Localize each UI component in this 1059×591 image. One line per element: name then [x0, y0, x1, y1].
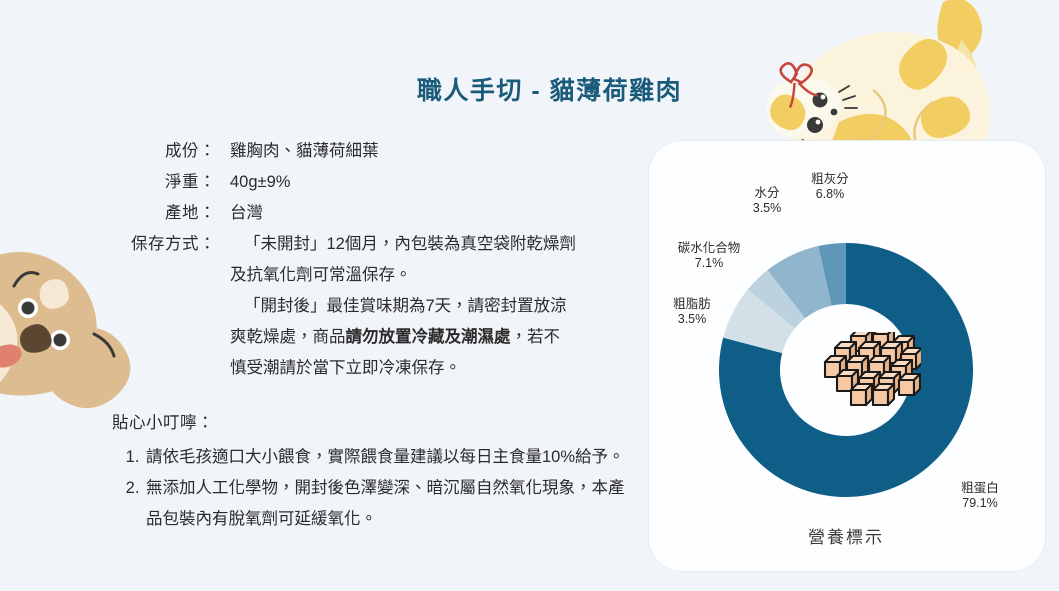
slice-label-name: 粗灰分 — [811, 172, 849, 186]
cube-front — [837, 376, 852, 391]
slice-label-protein: 粗蛋白 79.1% — [938, 481, 1022, 511]
cube-front — [899, 380, 914, 395]
spec-key: 保存方式： — [120, 229, 216, 260]
storage-line-4-prefix: 爽乾燥處，商品 — [230, 328, 346, 346]
storage-line-4-suffix: ，若不 — [511, 328, 561, 346]
spec-value: 雞胸肉、貓薄荷細葉 — [216, 136, 640, 167]
tips-heading: 貼心小叮嚀： — [112, 408, 632, 439]
nutrition-donut-chart: 粗灰分 6.8% 水分 3.5% 碳水化合物 7.1% 粗脂肪 3.5% 粗蛋白… — [648, 140, 1044, 570]
spec-key: 淨重： — [120, 167, 216, 198]
spec-value: 台灣 — [216, 198, 640, 229]
slice-label-value: 79.1% — [938, 496, 1022, 511]
slice-label-carbohydrate: 碳水化合物 7.1% — [654, 241, 764, 271]
cube-front — [873, 390, 888, 405]
tips-block: 貼心小叮嚀： 請依毛孩適口大小餵食，實際餵食量建議以每日主食量10%給予。 無添… — [112, 408, 632, 535]
list-item: 請依毛孩適口大小餵食，實際餵食量建議以每日主食量10%給予。 — [144, 442, 632, 473]
slice-label-ash: 粗灰分 6.8% — [790, 172, 870, 202]
slice-label-value: 7.1% — [654, 256, 764, 271]
slice-label-name: 粗蛋白 — [961, 481, 999, 495]
slice-label-name: 水分 — [754, 186, 779, 200]
chart-caption: 營養標示 — [648, 523, 1044, 548]
slice-label-value: 6.8% — [790, 187, 870, 202]
spec-value-line: 雞胸肉、貓薄荷細葉 — [230, 136, 640, 167]
spec-row-origin: 產地： 台灣 — [120, 198, 640, 229]
page-title: 職人手切 - 貓薄荷雞肉 — [0, 71, 1059, 107]
diced-chicken-cubes-icon — [811, 332, 921, 412]
slice-label-name: 碳水化合物 — [678, 241, 741, 255]
product-spec-list: 成份： 雞胸肉、貓薄荷細葉 淨重： 40g±9% 產地： 台灣 保存方式： 「未… — [120, 136, 640, 384]
slice-label-moisture: 水分 3.5% — [734, 186, 800, 216]
spec-value-line: 台灣 — [230, 198, 640, 229]
storage-line-2: 及抗氧化劑可常溫保存。 — [230, 260, 640, 291]
list-item: 無添加人工化學物，開封後色澤變深、暗沉屬自然氧化現象，本產品包裝內有脫氧劑可延緩… — [144, 473, 632, 535]
slice-label-name: 粗脂肪 — [673, 297, 711, 311]
spec-row-ingredients: 成份： 雞胸肉、貓薄荷細葉 — [120, 136, 640, 167]
spec-row-storage: 保存方式： 「未開封」12個月，內包裝為真空袋附乾燥劑 及抗氧化劑可常溫保存。 … — [120, 229, 640, 384]
storage-line-3: 「開封後」最佳賞味期為7天，請密封置放涼 — [230, 291, 640, 322]
spec-key: 成份： — [120, 136, 216, 167]
cube-front — [851, 390, 866, 405]
spec-value: 40g±9% — [216, 167, 640, 198]
storage-line-4: 爽乾燥處，商品請勿放置冷藏及潮濕處，若不 — [230, 322, 640, 353]
storage-line-1: 「未開封」12個月，內包裝為真空袋附乾燥劑 — [230, 229, 640, 260]
spec-key: 產地： — [120, 198, 216, 229]
storage-line-5: 慎受潮請於當下立即冷凍保存。 — [230, 353, 640, 384]
slice-label-fat: 粗脂肪 3.5% — [654, 297, 730, 327]
spec-value-line: 40g±9% — [230, 167, 640, 198]
slice-label-value: 3.5% — [734, 201, 800, 216]
tips-list: 請依毛孩適口大小餵食，實際餵食量建議以每日主食量10%給予。 無添加人工化學物，… — [112, 442, 632, 535]
spec-row-net-weight: 淨重： 40g±9% — [120, 167, 640, 198]
storage-warning-bold: 請勿放置冷藏及潮濕處 — [346, 328, 511, 346]
slide-page: 職人手切 - 貓薄荷雞肉 成份： 雞胸肉、貓薄荷細葉 淨重： 40g±9% 產地… — [0, 0, 1059, 591]
spec-value-storage: 「未開封」12個月，內包裝為真空袋附乾燥劑 及抗氧化劑可常溫保存。 「開封後」最… — [216, 229, 640, 384]
slice-label-value: 3.5% — [654, 312, 730, 327]
